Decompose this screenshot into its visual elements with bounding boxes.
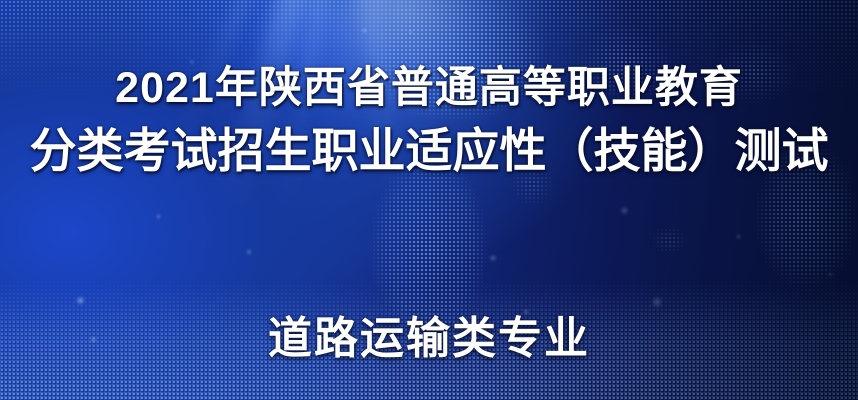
banner-title-line-2: 分类考试招生职业适应性（技能）测试	[0, 124, 858, 178]
event-banner: 2021年陕西省普通高等职业教育 分类考试招生职业适应性（技能）测试 道路运输类…	[0, 0, 858, 400]
banner-title-line-1: 2021年陕西省普通高等职业教育	[0, 63, 858, 113]
banner-subtitle: 道路运输类专业	[0, 313, 858, 365]
banner-text-group: 2021年陕西省普通高等职业教育 分类考试招生职业适应性（技能）测试 道路运输类…	[0, 0, 858, 400]
